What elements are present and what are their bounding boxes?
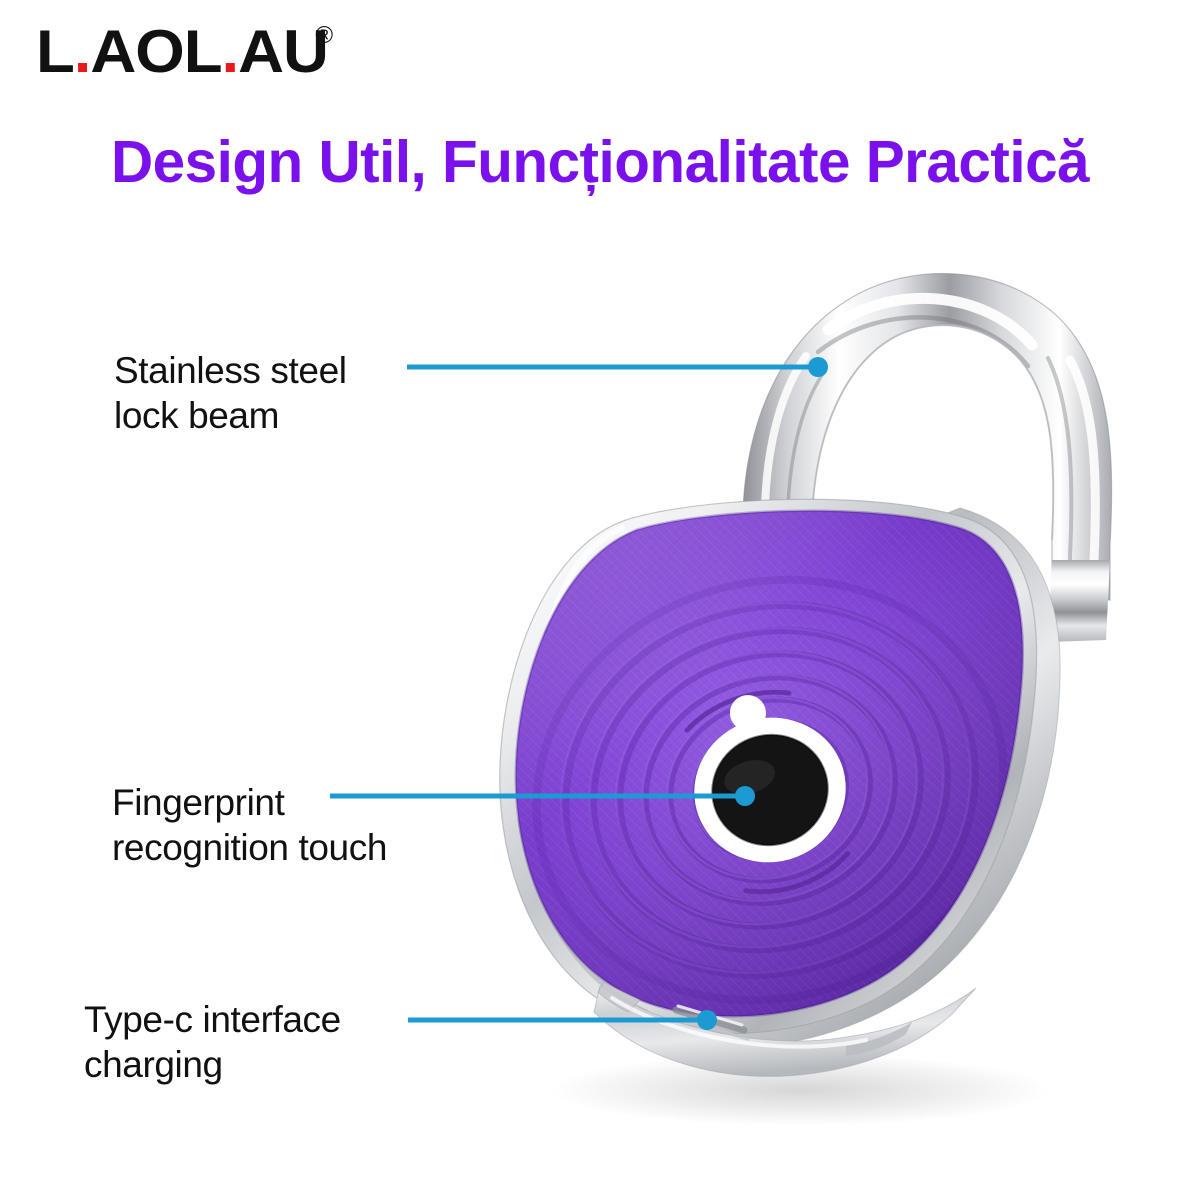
callout-label-stainless-steel-lock-beam: Stainless steel lock beam	[114, 348, 347, 438]
lock-body-group	[481, 490, 1060, 1076]
brand-wordmark: L.AOL.AU	[36, 22, 328, 82]
callout-label-fingerprint-recognition-touch: Fingerprint recognition touch	[112, 780, 387, 870]
brand-logo: L.AOL.AU ®	[36, 22, 333, 82]
callout-label-type-c-interface-charging: Type-c interface charging	[84, 997, 341, 1087]
brand-wordmark-dot2: .	[221, 18, 238, 85]
brand-wordmark-part1: L	[36, 18, 74, 85]
page-headline: Design Util, Funcționalitate Practică	[6, 132, 1194, 194]
brand-wordmark-dot1: .	[74, 18, 91, 85]
brand-wordmark-part2: AOL	[90, 18, 221, 85]
infographic-page: L.AOL.AU ® Design Util, Funcționalitate …	[0, 0, 1200, 1200]
brand-wordmark-part3: AU	[238, 18, 328, 85]
